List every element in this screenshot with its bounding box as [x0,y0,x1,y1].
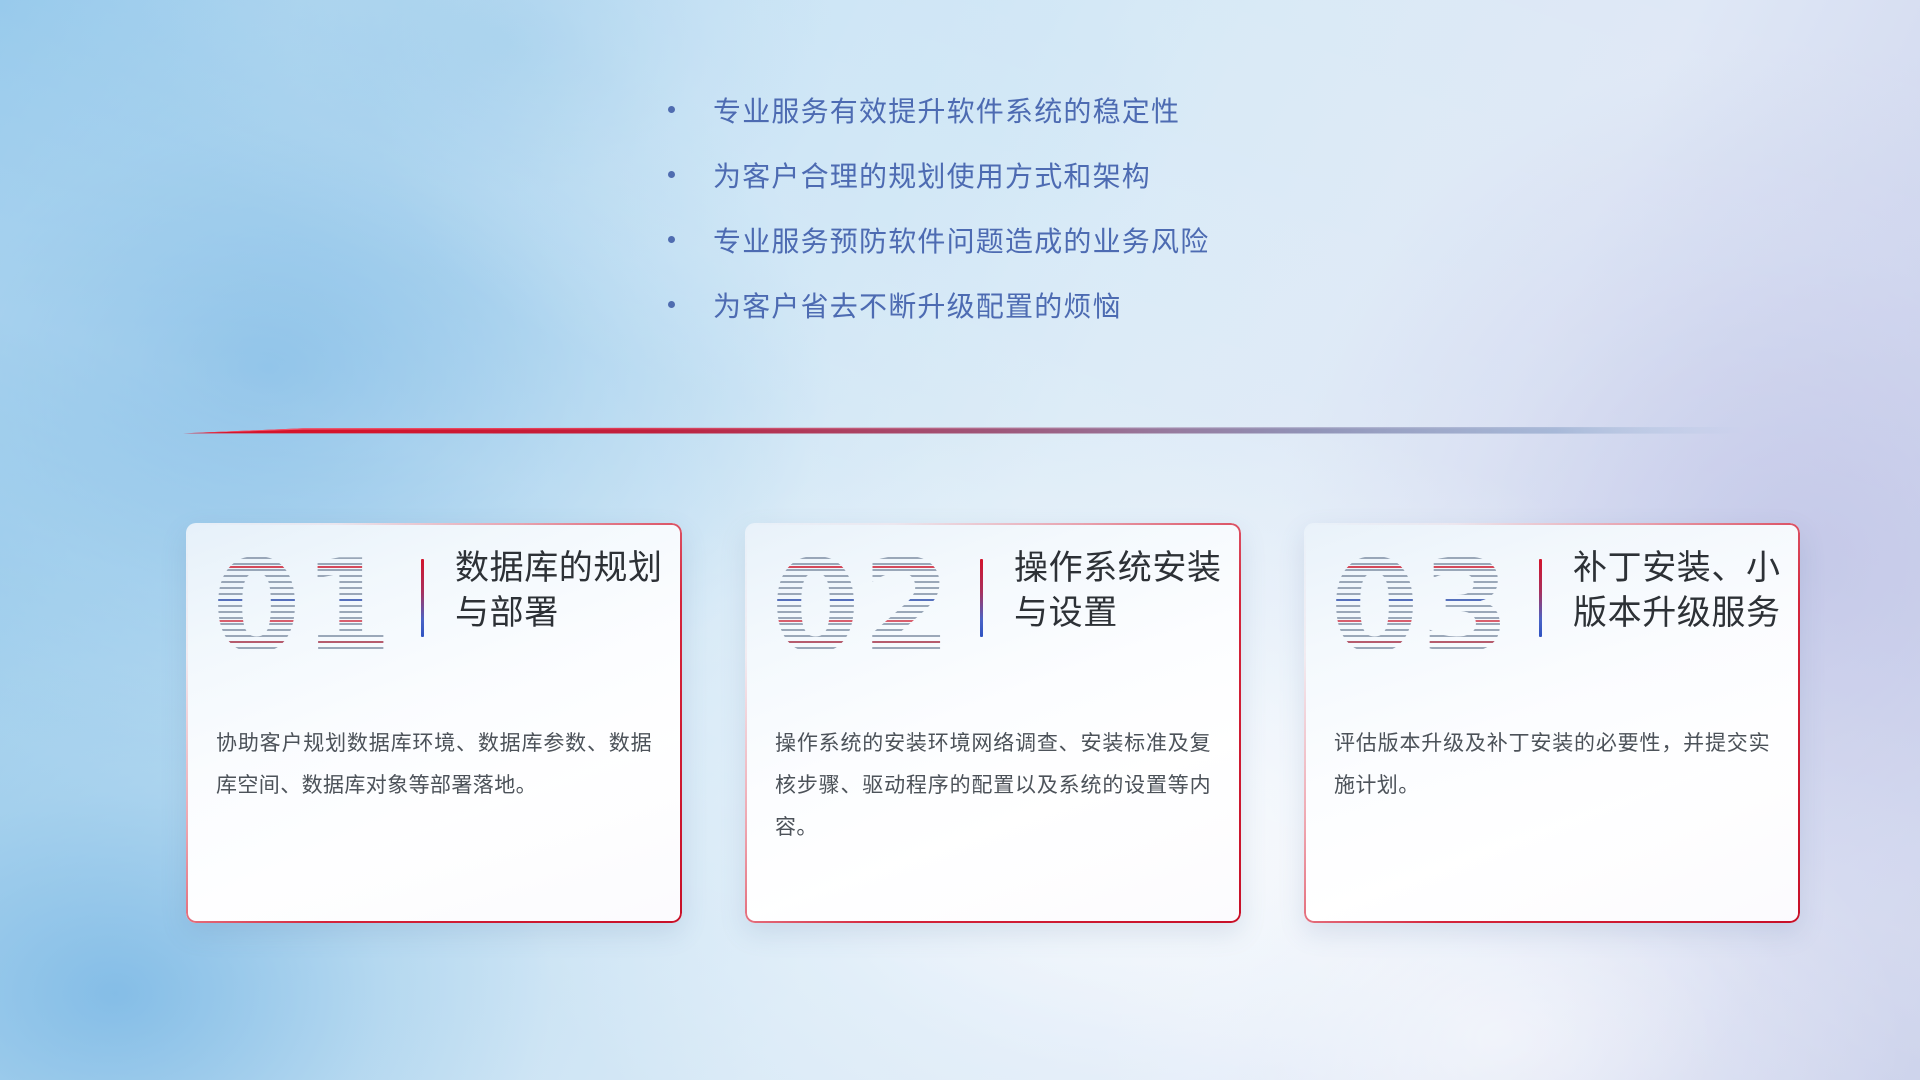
service-card-03[interactable]: 03 03 补丁安装、小版本升级服务 评估版本升级及补丁安装的必要性，并提交实施… [1304,523,1800,923]
service-card-02[interactable]: 02 02 操作系统安装与设置 操作系统的安装环境网络调查、安装标准及复核步骤、… [745,523,1241,923]
bullet-label: 为客户合理的规划使用方式和架构 [713,163,1151,191]
bullet-dot-icon [668,171,675,178]
benefits-bullet-list: 专业服务有效提升软件系统的稳定性 为客户合理的规划使用方式和架构 专业服务预防软… [668,98,1488,358]
slide-canvas: 专业服务有效提升软件系统的稳定性 为客户合理的规划使用方式和架构 专业服务预防软… [0,0,1920,1080]
card-number-watermark: 03 [1330,533,1520,683]
bullet-dot-icon [668,106,675,113]
list-item: 专业服务预防软件问题造成的业务风险 [668,228,1488,293]
card-header: 03 03 补丁安装、小版本升级服务 [1304,523,1800,703]
bullet-dot-icon [668,301,675,308]
card-description: 评估版本升级及补丁安装的必要性，并提交实施计划。 [1334,723,1770,807]
service-card-01[interactable]: 01 01 数据库的规划与部署 协助客户规划数据库环境、数据库参数、数据库空间、… [186,523,682,923]
card-title: 数据库的规划与部署 [455,546,670,636]
bullet-label: 专业服务有效提升软件系统的稳定性 [713,98,1180,126]
section-divider-rule [183,424,1743,438]
card-title: 操作系统安装与设置 [1014,546,1229,636]
card-description: 协助客户规划数据库环境、数据库参数、数据库空间、数据库对象等部署落地。 [216,723,652,807]
list-item: 为客户省去不断升级配置的烦恼 [668,293,1488,358]
card-title-divider-bar [1539,559,1542,637]
card-description: 操作系统的安装环境网络调查、安装标准及复核步骤、驱动程序的配置以及系统的设置等内… [775,723,1211,849]
card-title: 补丁安装、小版本升级服务 [1573,546,1788,636]
card-title-divider-bar [980,559,983,637]
bullet-dot-icon [668,236,675,243]
card-header: 02 02 操作系统安装与设置 [745,523,1241,703]
bullet-label: 专业服务预防软件问题造成的业务风险 [713,228,1209,256]
card-title-divider-bar [421,559,424,637]
service-card-row: 01 01 数据库的规划与部署 协助客户规划数据库环境、数据库参数、数据库空间、… [186,523,1802,923]
list-item: 专业服务有效提升软件系统的稳定性 [668,98,1488,163]
list-item: 为客户合理的规划使用方式和架构 [668,163,1488,228]
card-number-watermark: 02 [771,533,961,683]
bullet-label: 为客户省去不断升级配置的烦恼 [713,293,1122,321]
card-header: 01 01 数据库的规划与部署 [186,523,682,703]
card-number-watermark: 01 [212,533,402,683]
